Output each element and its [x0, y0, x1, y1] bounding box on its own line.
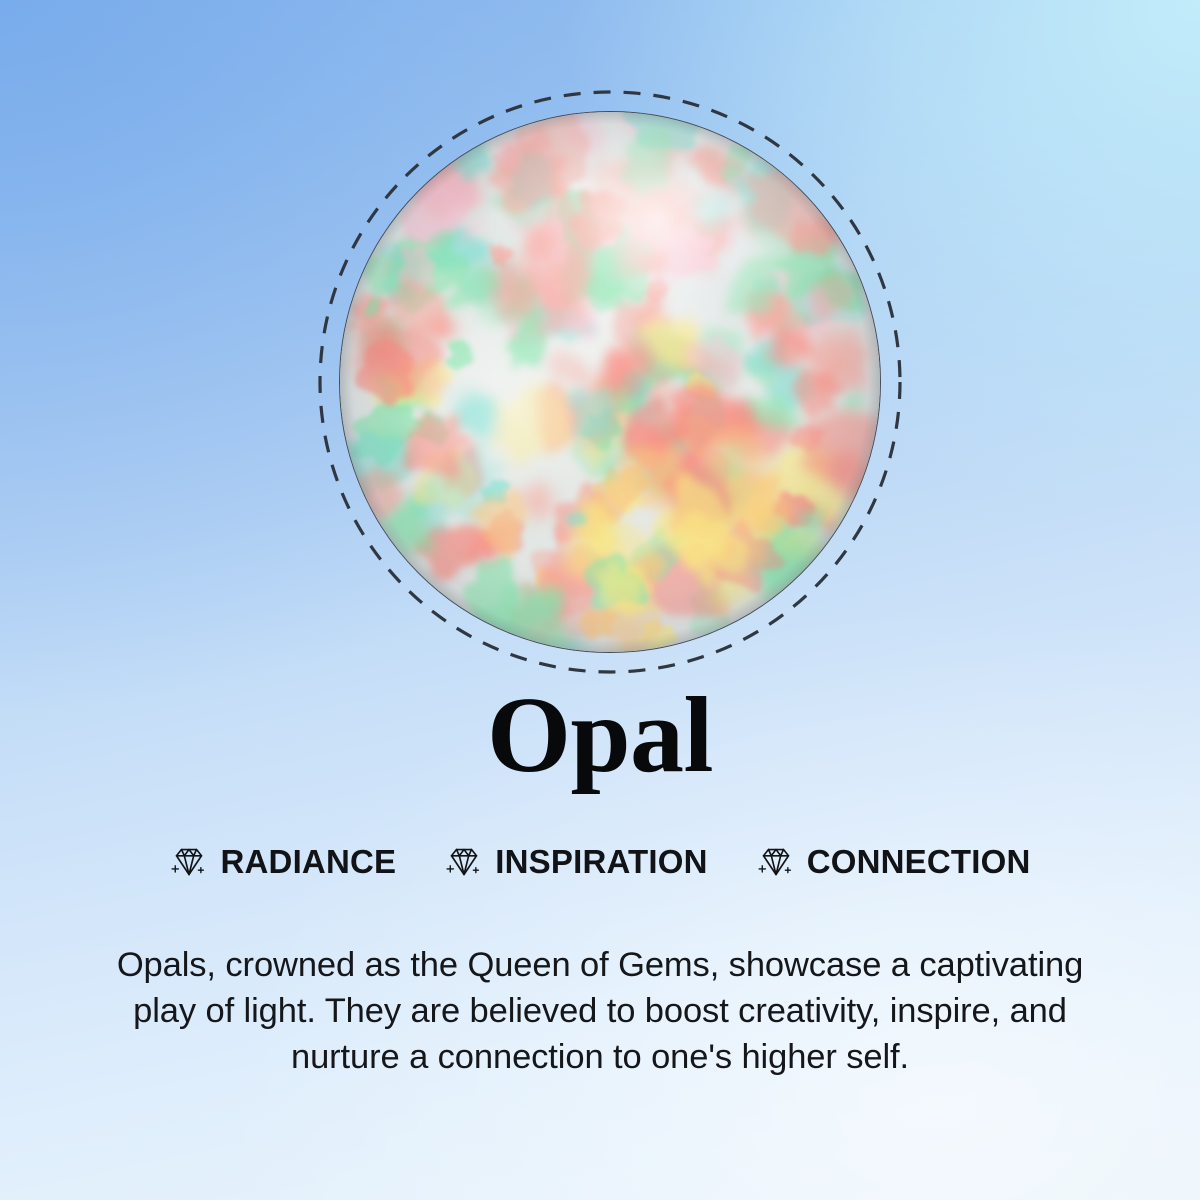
gemstone-figure [318, 90, 902, 674]
gemstone-info-card: Opal RADIANCE [0, 0, 1200, 1200]
diamond-gem-icon [756, 842, 796, 882]
diamond-gem-icon [444, 842, 484, 882]
keyword-row: RADIANCE INSPIRATION [0, 841, 1200, 882]
page-title: Opal [0, 682, 1200, 790]
keyword-label: RADIANCE [220, 843, 396, 881]
description-text: Opals, crowned as the Queen of Gems, sho… [100, 942, 1100, 1080]
diamond-gem-icon [169, 842, 209, 882]
opal-play-of-color-canvas [340, 112, 880, 652]
keyword-item-radiance: RADIANCE [169, 841, 396, 882]
keyword-label: CONNECTION [807, 843, 1031, 881]
keyword-item-inspiration: INSPIRATION [444, 841, 707, 882]
keyword-item-connection: CONNECTION [756, 841, 1031, 882]
keyword-label: INSPIRATION [495, 843, 707, 881]
opal-stone-image [339, 111, 881, 653]
